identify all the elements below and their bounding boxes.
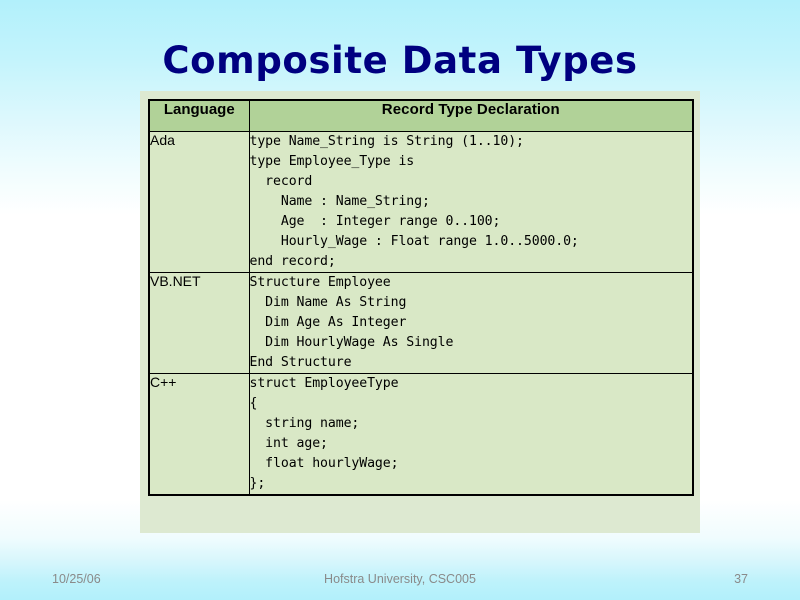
- cell-language-vbnet: VB.NET: [149, 273, 249, 374]
- table-row: VB.NET Structure Employee Dim Name As St…: [149, 273, 693, 374]
- slide-footer: 10/25/06 Hofstra University, CSC005 37: [0, 570, 800, 592]
- footer-page-number: 37: [734, 572, 748, 586]
- table-body: Ada type Name_String is String (1..10); …: [149, 132, 693, 496]
- code-block-vbnet: Structure Employee Dim Name As String Di…: [250, 273, 693, 373]
- code-block-ada: type Name_String is String (1..10); type…: [250, 132, 693, 272]
- record-type-table-container: Language Record Type Declaration Ada typ…: [140, 91, 700, 533]
- table-header-row: Language Record Type Declaration: [149, 100, 693, 132]
- slide-canvas: Composite Data Types Language Record Typ…: [0, 0, 800, 600]
- column-header-language: Language: [149, 100, 249, 132]
- cell-language-ada: Ada: [149, 132, 249, 273]
- cell-declaration-cpp: struct EmployeeType { string name; int a…: [249, 374, 693, 496]
- page-title: Composite Data Types: [0, 38, 800, 84]
- cell-declaration-ada: type Name_String is String (1..10); type…: [249, 132, 693, 273]
- code-block-cpp: struct EmployeeType { string name; int a…: [250, 374, 693, 494]
- column-header-record-type-declaration: Record Type Declaration: [249, 100, 693, 132]
- table-row: Ada type Name_String is String (1..10); …: [149, 132, 693, 273]
- table-row: C++ struct EmployeeType { string name; i…: [149, 374, 693, 496]
- cell-language-cpp: C++: [149, 374, 249, 496]
- footer-course-label: Hofstra University, CSC005: [0, 572, 800, 586]
- cell-declaration-vbnet: Structure Employee Dim Name As String Di…: [249, 273, 693, 374]
- record-type-table: Language Record Type Declaration Ada typ…: [148, 99, 694, 496]
- table-header: Language Record Type Declaration: [149, 100, 693, 132]
